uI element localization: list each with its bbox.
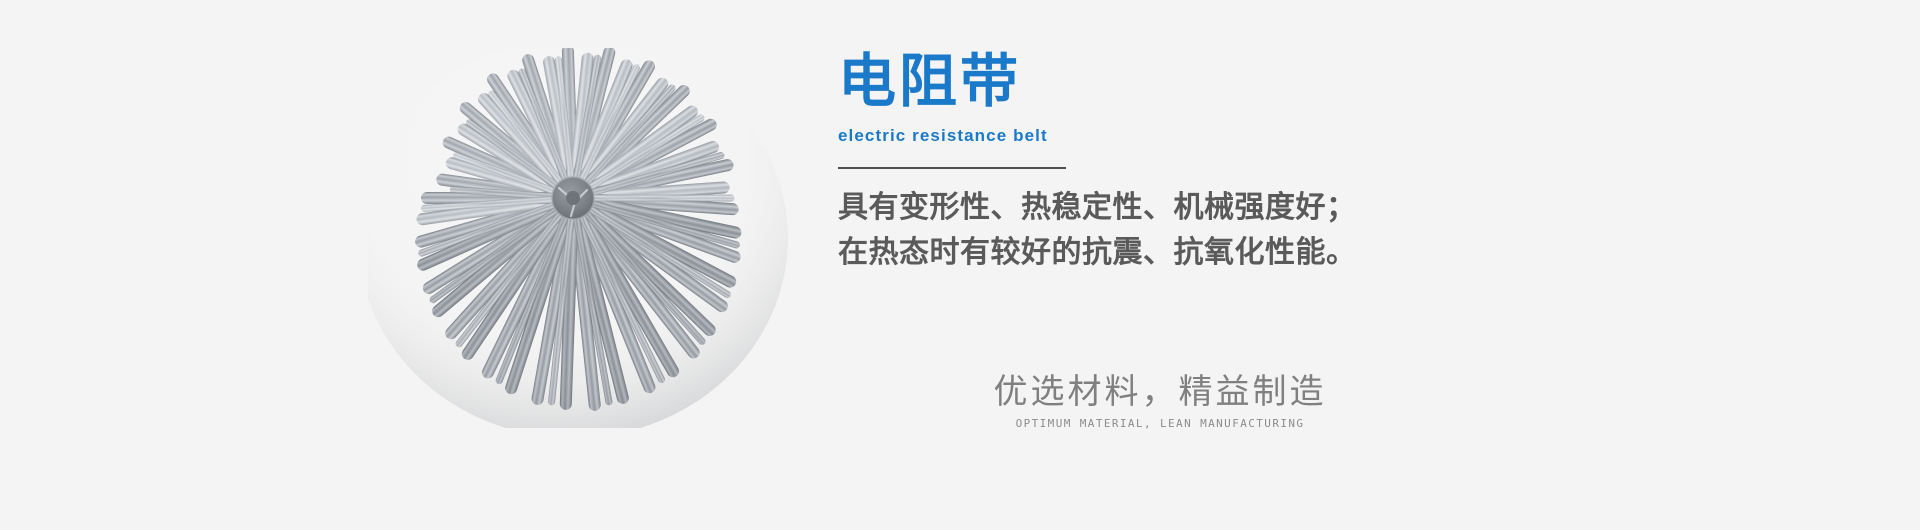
page-title: 电阻带 xyxy=(838,52,1066,110)
product-image xyxy=(368,48,788,428)
description-line-1: 具有变形性、热稳定性、机械强度好； xyxy=(838,185,1458,230)
product-banner: 电阻带 electric resistance belt 具有变形性、热稳定性、… xyxy=(0,0,1920,530)
title-divider xyxy=(838,167,1066,169)
page-subtitle: electric resistance belt xyxy=(838,126,1066,146)
description-line-2: 在热态时有较好的抗震、抗氧化性能。 xyxy=(838,230,1458,275)
resistance-belt-coil-illustration xyxy=(368,48,788,428)
description-block: 具有变形性、热稳定性、机械强度好； 在热态时有较好的抗震、抗氧化性能。 xyxy=(838,185,1458,275)
slogan-en: OPTIMUM MATERIAL, LEAN MANUFACTURING xyxy=(950,417,1370,430)
slogan-cn: 优选材料，精益制造 xyxy=(950,372,1370,413)
slogan-block: 优选材料，精益制造 OPTIMUM MATERIAL, LEAN MANUFAC… xyxy=(950,372,1370,430)
title-block: 电阻带 electric resistance belt xyxy=(838,52,1066,169)
banner-content: 电阻带 electric resistance belt 具有变形性、热稳定性、… xyxy=(838,0,1738,530)
